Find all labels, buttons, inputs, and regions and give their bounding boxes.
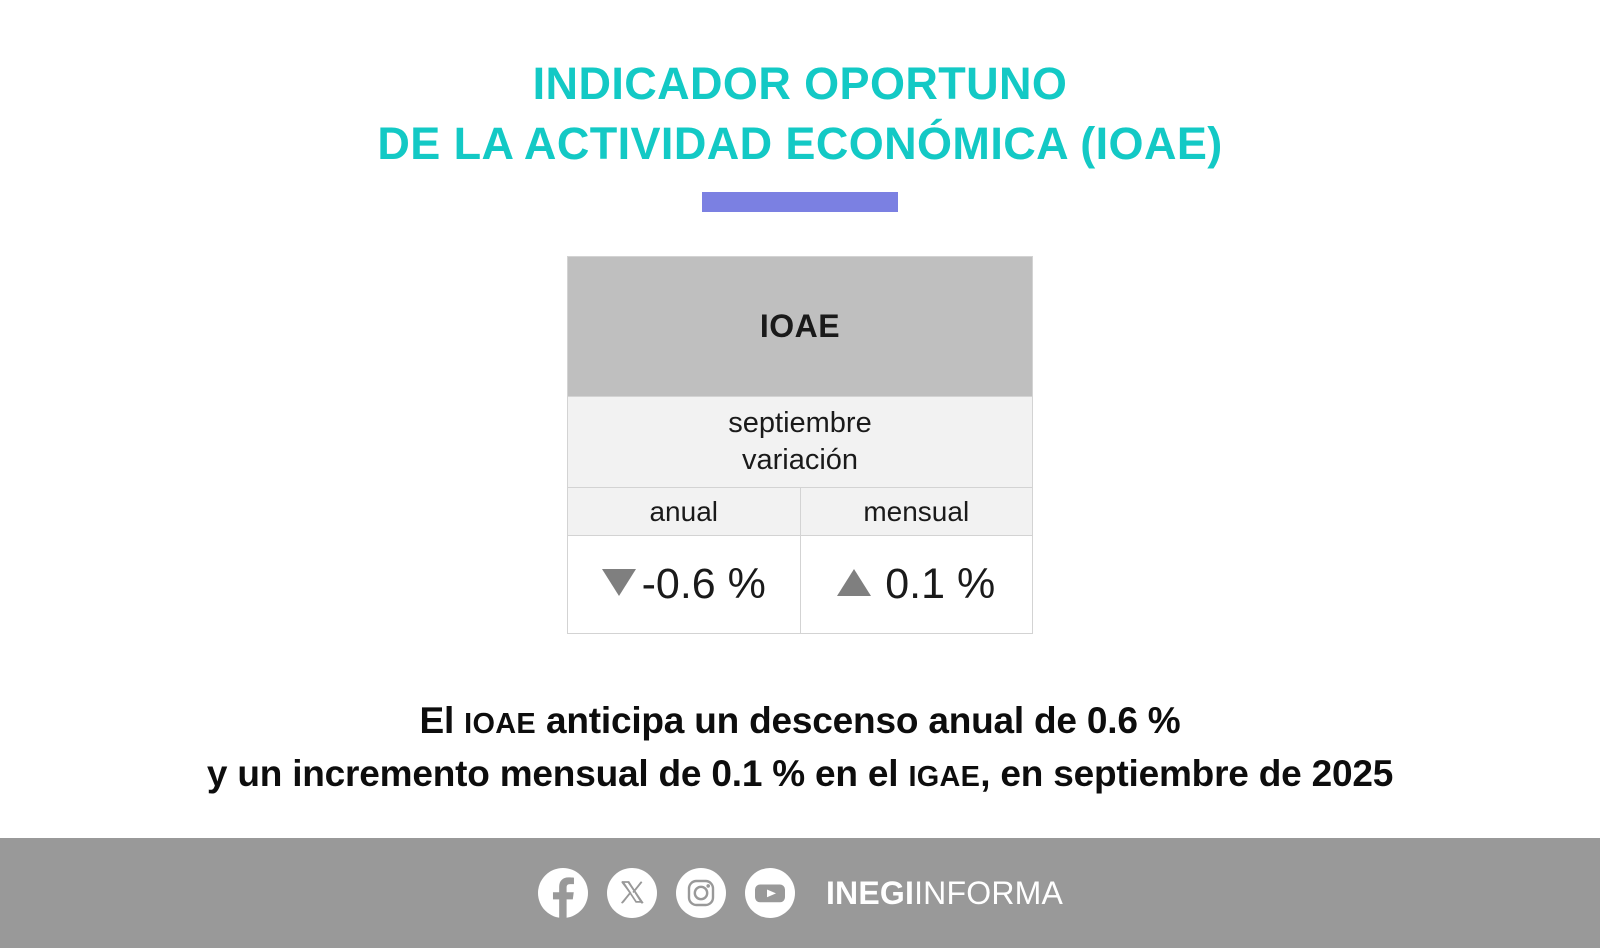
statement-line-2: y un incremento mensual de 0.1 % en el I…: [0, 749, 1600, 802]
statement-l1-acronym: IOAE: [464, 708, 536, 740]
statement-l2-acronym: IGAE: [908, 761, 980, 793]
value-mensual: 0.1 %: [885, 560, 995, 608]
accent-bar-container: [0, 192, 1600, 212]
youtube-icon[interactable]: [744, 867, 796, 919]
brand-inegi: INEGI: [826, 875, 914, 911]
period-month: septiembre: [569, 405, 1031, 442]
ioae-table: IOAE septiembre variación anual mensual …: [567, 256, 1033, 634]
brand-label: INEGIINFORMA: [826, 875, 1063, 912]
statement-l1-part2: anticipa un descenso anual de 0.6 %: [536, 700, 1181, 741]
x-twitter-icon[interactable]: [606, 867, 658, 919]
infographic-page: INDICADOR OPORTUNO DE LA ACTIVIDAD ECONÓ…: [0, 0, 1600, 948]
facebook-icon[interactable]: [537, 867, 589, 919]
title-line-1: INDICADOR OPORTUNO: [0, 54, 1600, 114]
table-row-subheader: anual mensual: [568, 488, 1033, 536]
footer-content: INEGIINFORMA: [537, 867, 1063, 919]
statement-l2-part2: , en septiembre de 2025: [980, 753, 1393, 794]
title-line-2: DE LA ACTIVIDAD ECONÓMICA (IOAE): [0, 114, 1600, 174]
accent-bar: [702, 192, 898, 212]
period-variation: variación: [569, 442, 1031, 479]
table-row-values: -0.6 % 0.1 %: [568, 536, 1033, 634]
table-row-period: septiembre variación: [568, 397, 1033, 488]
brand-informa: INFORMA: [914, 875, 1063, 911]
value-cell-mensual: 0.1 %: [800, 536, 1033, 634]
value-anual: -0.6 %: [642, 560, 766, 608]
instagram-icon[interactable]: [675, 867, 727, 919]
triangle-up-icon: [837, 569, 871, 596]
column-header-anual: anual: [568, 488, 801, 536]
table-period-cell: septiembre variación: [568, 397, 1033, 488]
statement-line-1: El IOAE anticipa un descenso anual de 0.…: [0, 696, 1600, 749]
footer-bar: INEGIINFORMA: [0, 838, 1600, 948]
page-title: INDICADOR OPORTUNO DE LA ACTIVIDAD ECONÓ…: [0, 54, 1600, 174]
table-row-header: IOAE: [568, 257, 1033, 397]
triangle-down-icon: [602, 569, 636, 596]
statement-text: El IOAE anticipa un descenso anual de 0.…: [0, 696, 1600, 802]
statement-l2-part1: y un incremento mensual de 0.1 % en el: [207, 753, 909, 794]
table-header-ioae: IOAE: [568, 257, 1033, 397]
ioae-table-container: IOAE septiembre variación anual mensual …: [0, 256, 1600, 634]
value-cell-anual: -0.6 %: [568, 536, 801, 634]
statement-l1-part1: El: [419, 700, 464, 741]
column-header-mensual: mensual: [800, 488, 1033, 536]
